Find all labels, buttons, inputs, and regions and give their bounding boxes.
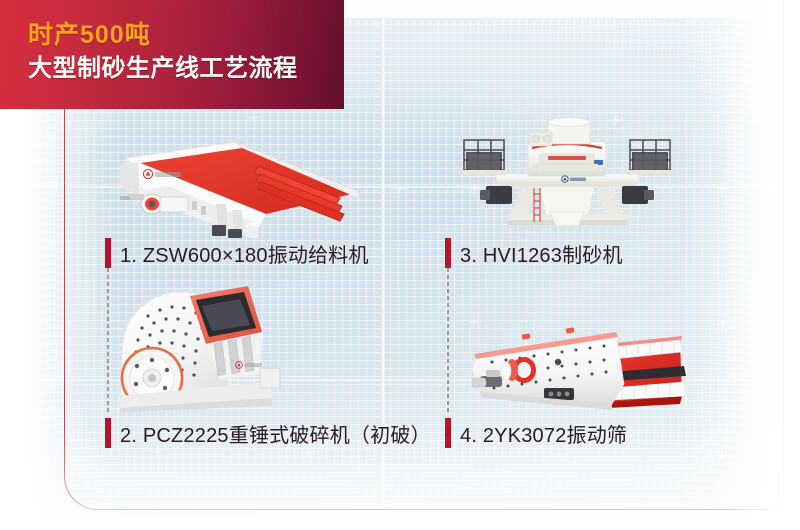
item-label-text: 4. 2YK3072振动筛 xyxy=(460,419,627,448)
poster-canvas: 时产500吨 大型制砂生产线工艺流程 1. ZSW600×180振动给料机 2.… xyxy=(0,0,800,530)
machine-image-hammer-crusher xyxy=(110,282,360,412)
item-marker-bar xyxy=(445,238,451,268)
item-label-3[interactable]: 3. HVI1263制砂机 xyxy=(445,238,623,268)
banner-title-line1: 时产500吨 xyxy=(28,22,344,49)
dotted-connector-right xyxy=(447,268,449,414)
dotted-connector-left xyxy=(107,268,109,414)
machine-image-sand-making-machine xyxy=(452,116,682,234)
item-label-text: 2. PCZ2225重锤式破碎机（初破） xyxy=(120,419,431,448)
item-label-text: 3. HVI1263制砂机 xyxy=(460,239,623,268)
item-marker-bar xyxy=(105,238,111,268)
banner-title-line2: 大型制砂生产线工艺流程 xyxy=(28,54,344,84)
item-marker-bar xyxy=(445,418,451,448)
machine-image-vibrating-screen xyxy=(466,320,716,412)
title-banner: 时产500吨 大型制砂生产线工艺流程 xyxy=(0,0,344,109)
item-label-text: 1. ZSW600×180振动给料机 xyxy=(120,239,369,268)
machine-image-vibrating-feeder xyxy=(108,128,398,238)
item-marker-bar xyxy=(105,418,111,448)
item-label-2[interactable]: 2. PCZ2225重锤式破碎机（初破） xyxy=(105,418,431,448)
item-label-1[interactable]: 1. ZSW600×180振动给料机 xyxy=(105,238,369,268)
item-label-4[interactable]: 4. 2YK3072振动筛 xyxy=(445,418,627,448)
